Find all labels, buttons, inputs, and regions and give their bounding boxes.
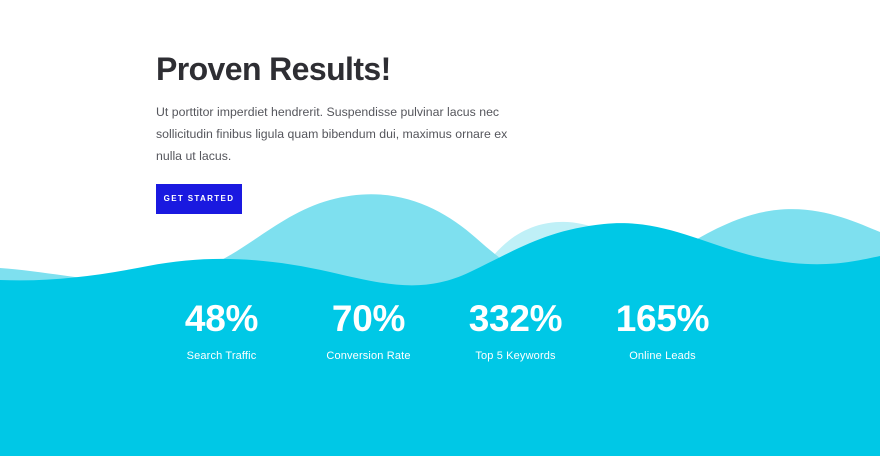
stat-value: 70% [295, 300, 442, 337]
stat-label: Online Leads [589, 350, 736, 362]
get-started-button[interactable]: GET STARTED [156, 184, 242, 214]
stat-label: Conversion Rate [295, 350, 442, 362]
stat-item: 332% Top 5 Keywords [442, 300, 589, 362]
stat-label: Top 5 Keywords [442, 350, 589, 362]
cta-container: GET STARTED [156, 184, 716, 214]
stat-item: 48% Search Traffic [148, 300, 295, 362]
landing-page: Proven Results! Ut porttitor imperdiet h… [0, 0, 880, 456]
stats-row: 48% Search Traffic 70% Conversion Rate 3… [144, 300, 736, 362]
page-title: Proven Results! [156, 52, 716, 88]
stat-label: Search Traffic [148, 350, 295, 362]
stat-value: 48% [148, 300, 295, 337]
stat-value: 165% [589, 300, 736, 337]
stat-item: 70% Conversion Rate [295, 300, 442, 362]
stat-value: 332% [442, 300, 589, 337]
hero-section: Proven Results! Ut porttitor imperdiet h… [156, 52, 716, 214]
stat-item: 165% Online Leads [589, 300, 736, 362]
hero-paragraph: Ut porttitor imperdiet hendrerit. Suspen… [156, 102, 528, 168]
stats-section: 48% Search Traffic 70% Conversion Rate 3… [0, 300, 880, 456]
